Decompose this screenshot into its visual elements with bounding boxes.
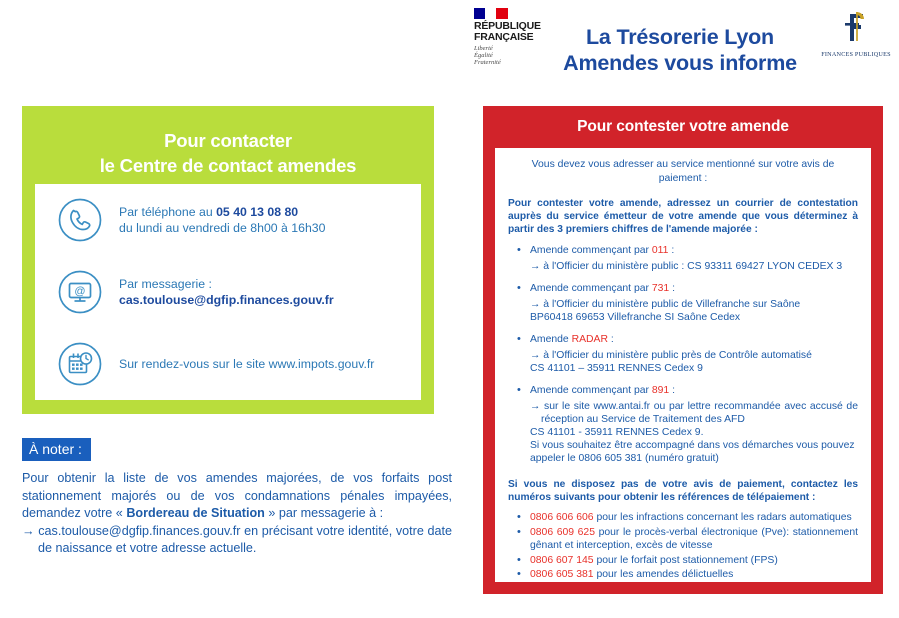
phone-description: pour les amendes délictuelles [594,569,734,580]
french-flag-icon [474,8,508,19]
phone-number: 0806 607 145 [530,555,594,566]
contact-method-appointment: Sur rendez-vous sur le site www.impots.g… [35,328,421,400]
phone-number: 0806 605 381 [530,569,594,580]
contact-phone-number: 05 40 13 08 80 [216,205,298,219]
phone-description: pour le forfait post stationnement (FPS) [594,555,778,566]
document-header: RÉPUBLIQUE FRANÇAISE Liberté Égalité Fra… [0,0,899,100]
svg-text:@: @ [74,286,85,298]
rf-motto-fraternite: Fraternité [474,59,552,66]
contact-heading-line2: le Centre de contact amendes [22,153,434,178]
phone-number: 0806 609 625 [530,527,595,538]
list-item: Amende commençant par 011 : → à l'Offici… [508,244,858,273]
contest-intro: Vous devez vous adresser au service ment… [508,158,858,186]
phone-icon [57,197,103,243]
rf-logo-line1: RÉPUBLIQUE [474,21,552,32]
contest-fine-panel: Pour contester votre amende Vous devez v… [483,106,883,594]
amende-detail-line: → à l'Officier du ministère public de Vi… [530,298,858,311]
list-item: Amende RADAR : → à l'Officier du ministè… [508,333,858,375]
amende-code: 731 [652,283,669,294]
calendar-clock-icon [57,341,103,387]
list-item: 0806 605 381 pour les amendes délictuell… [508,568,858,582]
amende-detail-line: → à l'Officier du ministère public : CS … [530,260,858,273]
page-title-line1: La Trésorerie Lyon [545,24,815,50]
finances-publiques-logo: FINANCES PUBLIQUES [820,10,892,58]
amende-suffix: : [668,245,674,256]
contact-methods-card: Par téléphone au 05 40 13 08 80 du lundi… [35,184,421,400]
amende-prefix: Amende [530,334,572,345]
amende-suffix: : [608,334,614,345]
contact-center-panel: Pour contacter le Centre de contact amen… [22,106,434,414]
amende-prefix: Amende commençant par [530,283,652,294]
note-section: À noter : Pour obtenir la liste de vos a… [22,438,462,558]
contact-heading-line1: Pour contacter [22,128,434,153]
contact-panel-heading: Pour contacter le Centre de contact amen… [22,106,434,178]
page-title-line2: Amendes vous informe [545,50,815,76]
amende-suffix: : [669,283,675,294]
amende-detail-line: → à l'Officier du ministère public près … [530,349,858,362]
fp-monogram-icon [839,10,873,44]
amende-suffix: : [669,385,675,396]
telepayment-phone-list: 0806 606 606 pour les infractions concer… [508,511,858,582]
contact-email-text: Par messagerie : cas.toulouse@dgfip.fina… [119,276,421,308]
list-item: Amende commençant par 731 : → à l'Offici… [508,282,858,324]
amende-prefix: Amende commençant par [530,385,652,396]
finances-publiques-label: FINANCES PUBLIQUES [820,51,892,58]
contest-panel-heading: Pour contester votre amende [483,106,883,137]
note-badge: À noter : [22,438,91,461]
email-monitor-icon: @ [57,269,103,315]
rf-motto-egalite: Égalité [474,52,552,59]
republique-francaise-logo: RÉPUBLIQUE FRANÇAISE Liberté Égalité Fra… [474,8,552,66]
amende-prefix: Amende commençant par [530,245,652,256]
contact-phone-text: Par téléphone au 05 40 13 08 80 du lundi… [119,204,326,236]
list-item: 0806 606 606 pour les infractions concer… [508,511,858,525]
phone-intro: Si vous ne disposez pas de votre avis de… [508,479,858,505]
contact-phone-hours: du lundi au vendredi de 8h00 à 16h30 [119,220,326,236]
contact-method-phone: Par téléphone au 05 40 13 08 80 du lundi… [35,184,421,256]
amende-code: 011 [652,245,669,256]
finances-publiques-mark [820,10,892,50]
contest-content-card: Vous devez vous adresser au service ment… [495,148,871,582]
contact-method-email: @ Par messagerie : cas.toulouse@dgfip.fi… [35,256,421,328]
amende-detail-line: → sur le site www.antai.fr ou par lettre… [530,400,858,426]
phone-number: 0806 606 606 [530,512,594,523]
amende-detail-line: CS 41101 - 35911 RENNES Cedex 9. [530,426,858,439]
list-item: Amende commençant par 891 : → sur le sit… [508,384,858,465]
page-title: La Trésorerie Lyon Amendes vous informe [545,24,815,76]
amende-detail-line: BP60418 69653 Villefranche SI Saône Cede… [530,311,858,324]
contact-appointment-label: Sur rendez-vous sur le site www.impots.g… [119,356,374,372]
contact-email-address: cas.toulouse@dgfip.finances.gouv.fr [119,293,334,307]
note-arrow-line: → cas.toulouse@dgfip.finances.gouv.fr en… [22,523,452,558]
contest-instruction: Pour contester votre amende, adressez un… [508,198,858,236]
rf-logo-line2: FRANÇAISE [474,32,552,43]
contact-phone-prefix: Par téléphone au [119,205,216,219]
rf-motto-liberte: Liberté [474,45,552,52]
contact-email-prefix: Par messagerie : [119,277,212,291]
list-item: 0806 609 625 pour le procès-verbal élect… [508,526,858,553]
contact-appointment-text: Sur rendez-vous sur le site www.impots.g… [119,356,374,372]
note-text-bold: Bordereau de Situation [126,506,265,520]
list-item: 0806 607 145 pour le forfait post statio… [508,554,858,568]
note-text-part2: » par messagerie à : [265,506,383,520]
amende-code-list: Amende commençant par 011 : → à l'Offici… [508,244,858,465]
amende-code: 891 [652,385,669,396]
amende-detail-line: Si vous souhaitez être accompagné dans v… [530,439,858,465]
note-body: Pour obtenir la liste de vos amendes maj… [22,470,452,558]
phone-description: pour les infractions concernant les rada… [594,512,852,523]
amende-detail-line: CS 41101 – 35911 RENNES Cedex 9 [530,362,858,375]
amende-code: RADAR [572,334,608,345]
